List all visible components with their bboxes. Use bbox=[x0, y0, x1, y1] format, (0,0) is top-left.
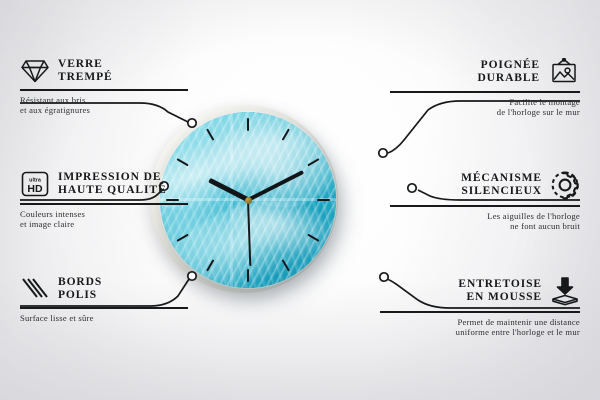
infographic-canvas: VERRE TREMPÉ Résistant aux bris et aux é… bbox=[0, 0, 600, 400]
callout-desc-line: ne font aucun bruit bbox=[390, 221, 580, 232]
callout-desc-line: Les aiguilles de l'horloge bbox=[390, 211, 580, 222]
callout-desc-line: et image claire bbox=[20, 219, 188, 230]
callout-verre-trempe: VERRE TREMPÉ Résistant aux bris et aux é… bbox=[20, 58, 188, 116]
callout-desc-line: Permet de maintenir une distance bbox=[380, 317, 580, 328]
callout-rule bbox=[20, 307, 188, 309]
callout-title: POIGNÉE DURABLE bbox=[477, 59, 540, 85]
connector-dot-verre-trempe bbox=[188, 119, 196, 127]
callout-title: IMPRESSION DE HAUTE QUALITÉ bbox=[58, 171, 167, 197]
callout-desc-line: Couleurs intenses bbox=[20, 209, 188, 220]
svg-text:HD: HD bbox=[27, 183, 43, 195]
callout-desc-line: Facilite le montage bbox=[390, 97, 580, 108]
callout-poignee-durable: POIGNÉE DURABLE Facilite le montage de l… bbox=[390, 58, 580, 118]
callout-title: VERRE TREMPÉ bbox=[58, 58, 113, 84]
hanging-frame-icon bbox=[548, 58, 580, 86]
callout-entretoise-en-mousse: ENTRETOISE EN MOUSSE Permet de maintenir… bbox=[380, 276, 580, 338]
callout-rule bbox=[380, 311, 580, 313]
callout-title: ENTRETOISE EN MOUSSE bbox=[458, 278, 542, 304]
callout-rule bbox=[390, 91, 580, 93]
callout-desc-line: Résistant aux bris bbox=[20, 95, 188, 106]
callout-header: POIGNÉE DURABLE bbox=[390, 58, 580, 86]
callout-desc-line: uniforme entre l'horloge et le mur bbox=[380, 327, 580, 338]
callout-desc-line: de l'horloge sur le mur bbox=[390, 107, 580, 118]
connector-dot-bords-polis bbox=[188, 272, 196, 280]
gear-icon bbox=[550, 170, 580, 200]
callout-title: MÉCANISME SILENCIEUX bbox=[461, 172, 542, 198]
callout-desc-line: et aux égratignures bbox=[20, 105, 188, 116]
callout-impression-haute-qualite: ultra HD IMPRESSION DE HAUTE QUALITÉ Cou… bbox=[20, 170, 188, 230]
callout-bords-polis: BORDS POLIS Surface lisse et sûre bbox=[20, 276, 188, 323]
callout-rule bbox=[20, 89, 188, 91]
callout-header: ultra HD IMPRESSION DE HAUTE QUALITÉ bbox=[20, 170, 188, 198]
callout-rule bbox=[390, 205, 580, 207]
callout-desc-line: Surface lisse et sûre bbox=[20, 313, 188, 324]
callout-title: BORDS POLIS bbox=[58, 276, 102, 302]
callout-header: MÉCANISME SILENCIEUX bbox=[390, 170, 580, 200]
callout-header: VERRE TREMPÉ bbox=[20, 58, 188, 84]
connector-dot-poignee bbox=[379, 149, 387, 157]
diagonal-stripes-icon bbox=[20, 277, 50, 301]
callout-header: BORDS POLIS bbox=[20, 276, 188, 302]
callout-mecanisme-silencieux: MÉCANISME SILENCIEUX Les aiguilles de l'… bbox=[390, 170, 580, 232]
ultra-hd-icon: ultra HD bbox=[20, 170, 50, 198]
arrow-down-stack-icon bbox=[550, 276, 580, 306]
callout-rule bbox=[20, 203, 188, 205]
callout-header: ENTRETOISE EN MOUSSE bbox=[380, 276, 580, 306]
diamond-icon bbox=[20, 58, 50, 84]
